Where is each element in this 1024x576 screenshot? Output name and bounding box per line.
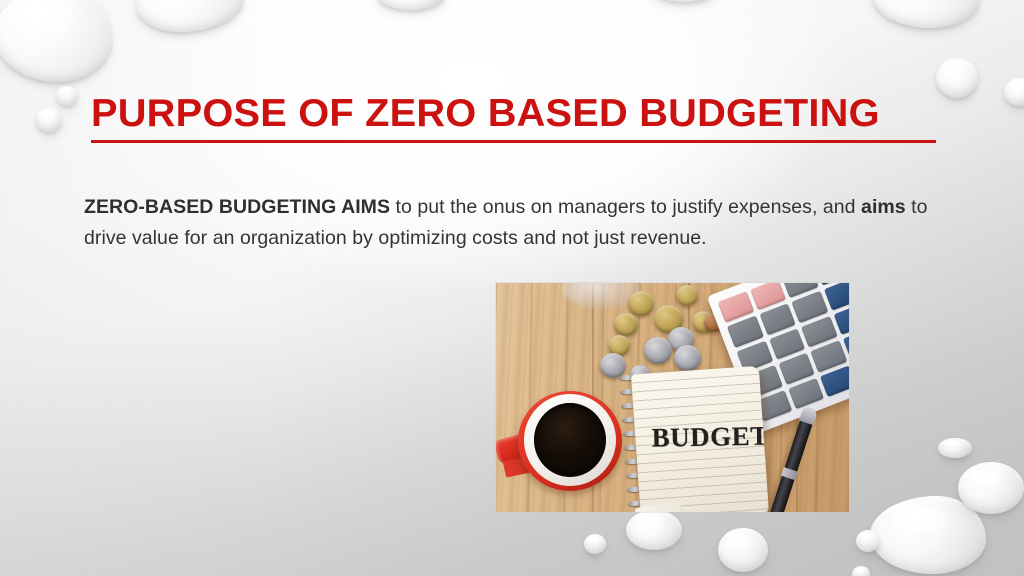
coin <box>676 285 698 306</box>
water-droplet-icon <box>136 0 244 32</box>
water-droplet-icon <box>376 0 446 10</box>
coffee-liquid <box>534 403 606 477</box>
water-droplet-icon <box>36 108 62 132</box>
water-droplet-icon <box>626 510 682 550</box>
water-droplet-icon <box>958 462 1024 514</box>
coin <box>614 313 638 336</box>
page-title: PURPOSE OF ZERO BASED BUDGETING <box>91 93 958 135</box>
title-underline <box>91 140 936 143</box>
budget-desk-photo: BUDGET <box>496 283 849 512</box>
water-droplet-icon <box>936 58 978 98</box>
water-droplet-icon <box>938 438 972 458</box>
water-droplet-icon <box>852 566 870 576</box>
coin <box>628 291 654 316</box>
water-droplet-icon <box>872 0 980 28</box>
water-droplet-icon <box>1004 78 1024 106</box>
body-inline-bold: aims <box>861 196 906 218</box>
slide-canvas: PURPOSE OF ZERO BASED BUDGETING ZERO-BAS… <box>0 0 1024 576</box>
water-droplet-icon <box>870 496 986 574</box>
water-droplet-icon <box>718 528 768 572</box>
water-droplet-icon <box>856 530 880 552</box>
calculator-key <box>824 283 849 311</box>
pen-band <box>781 467 798 480</box>
calculator-key <box>788 378 824 410</box>
title-block: PURPOSE OF ZERO BASED BUDGETING <box>91 93 941 143</box>
body-paragraph: ZERO-BASED BUDGETING AIMS to put the onu… <box>84 192 936 254</box>
water-droplet-icon <box>648 0 720 2</box>
coin <box>644 337 672 364</box>
coin <box>674 345 701 371</box>
notepad-word-budget: BUDGET <box>651 421 756 454</box>
water-droplet-icon <box>584 534 606 554</box>
budget-notepad: BUDGET <box>631 366 769 512</box>
body-lead-bold: ZERO-BASED BUDGETING AIMS <box>84 196 390 218</box>
body-text-part-1: to put the onus on managers to justify e… <box>390 196 861 218</box>
water-droplet-icon <box>0 0 112 82</box>
water-droplet-icon <box>56 86 78 106</box>
